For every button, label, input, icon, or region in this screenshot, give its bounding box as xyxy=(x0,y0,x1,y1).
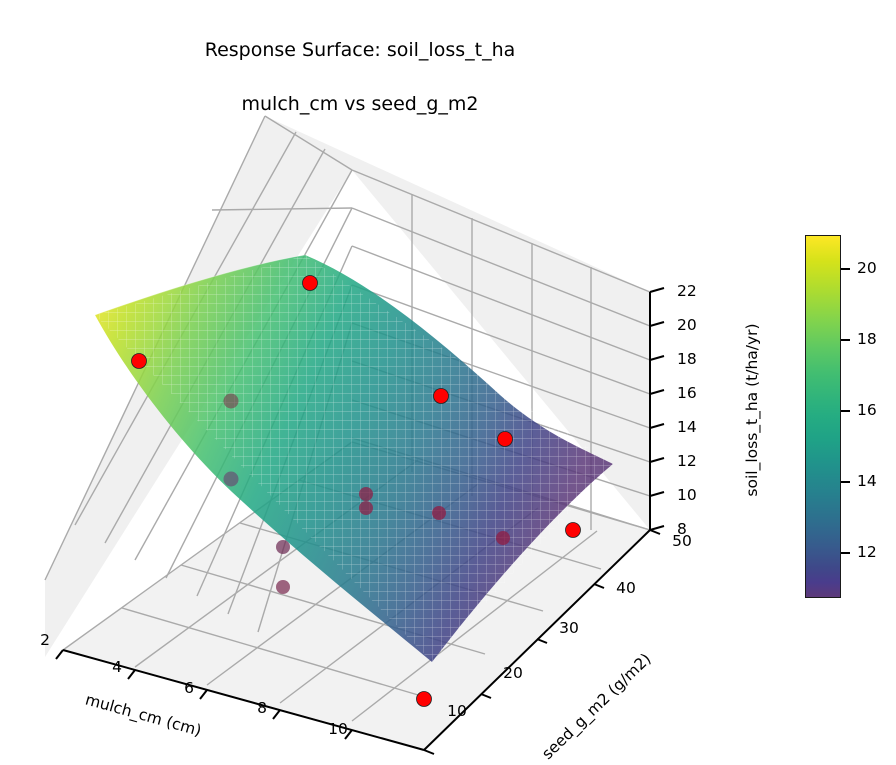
y-tick-label: 30 xyxy=(559,619,579,637)
scatter-point xyxy=(359,487,373,501)
z-axis-label: soil_loss_t_ha (t/ha/yr) xyxy=(743,323,762,496)
z-tick-label: 18 xyxy=(677,350,697,368)
scatter-point xyxy=(276,580,290,594)
z-tick-label: 12 xyxy=(677,452,697,470)
colorbar-tick-label: 16 xyxy=(857,401,877,419)
z-tick-label: 22 xyxy=(677,282,697,300)
colorbar-tick xyxy=(841,268,850,270)
z-tick-label: 16 xyxy=(677,384,697,402)
colorbar-tick-label: 18 xyxy=(857,330,877,348)
colorbar-tick xyxy=(841,481,850,483)
y-tick-label: 40 xyxy=(616,579,636,597)
y-tick-label: 10 xyxy=(447,702,467,720)
x-tick-label: 10 xyxy=(328,720,348,738)
x-tick-label: 4 xyxy=(112,658,122,676)
z-tick-label: 20 xyxy=(677,316,697,334)
z-axis-tick-labels: 22 20 18 16 14 12 10 8 xyxy=(677,282,697,538)
scatter-point xyxy=(566,523,581,538)
scatter-point xyxy=(417,692,432,707)
y-tick-label: 20 xyxy=(503,664,523,682)
z-tick-label: 14 xyxy=(677,418,697,436)
colorbar-tick-label: 14 xyxy=(857,472,877,490)
colorbar-ticks: 20 18 16 14 12 xyxy=(805,235,896,598)
scatter-point xyxy=(432,506,446,520)
x-axis-label: mulch_cm (cm) xyxy=(83,691,203,741)
colorbar-tick xyxy=(841,339,850,341)
scatter-point xyxy=(498,432,513,447)
colorbar-tick xyxy=(841,410,850,412)
scatter-point xyxy=(496,531,510,545)
colorbar-tick xyxy=(841,552,850,554)
z-tick-label: 8 xyxy=(677,520,687,538)
scatter-point xyxy=(276,540,290,554)
colorbar-tick-label: 12 xyxy=(857,543,877,561)
y-axis-label: seed_g_m2 (g/m2) xyxy=(538,650,655,764)
plot-svg: 2 4 6 8 10 mulch_cm (cm) 10 20 30 40 50 xyxy=(0,60,720,765)
scatter-point xyxy=(224,472,239,487)
x-tick-label: 2 xyxy=(40,631,50,649)
figure-canvas: Response Surface: soil_loss_t_ha mulch_c… xyxy=(0,0,896,765)
scatter-point xyxy=(303,276,318,291)
x-tick-label: 6 xyxy=(184,679,194,697)
z-tick-label: 10 xyxy=(677,486,697,504)
z-axis-ticks xyxy=(650,288,664,530)
surface-plot-3d[interactable]: 2 4 6 8 10 mulch_cm (cm) 10 20 30 40 50 xyxy=(0,60,720,765)
scatter-point xyxy=(224,394,239,409)
x-tick-label: 8 xyxy=(257,699,267,717)
scatter-point xyxy=(434,389,449,404)
colorbar-tick-label: 20 xyxy=(857,259,877,277)
scatter-point xyxy=(359,501,373,515)
scatter-point xyxy=(132,354,147,369)
